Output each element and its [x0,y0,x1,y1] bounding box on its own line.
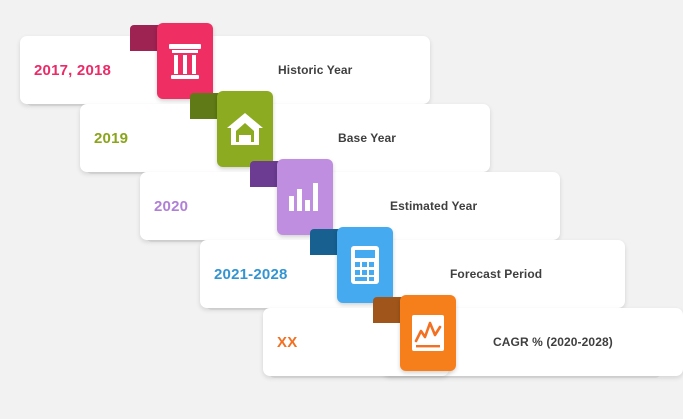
description-label: CAGR % (2020-2028) [493,308,613,376]
house-icon [224,108,266,150]
line-chart-icon-tile [400,295,456,371]
year-label: 2021-2028 [214,240,288,308]
pillar-icon [165,38,205,84]
bar-chart-icon [284,176,326,218]
timeline-diagram: 2017, 2018 Historic Year 2019 Base Year [0,0,683,419]
year-label: XX [277,308,297,376]
year-label: 2020 [154,172,188,240]
timeline-row-cagr: XX CAGR % (2020-2028) [263,308,663,376]
calculator-icon [347,243,383,287]
description-label: Base Year [338,104,396,172]
house-icon-tile [217,91,273,167]
description-label: Estimated Year [390,172,477,240]
year-label: 2017, 2018 [34,36,111,104]
bar-chart-icon-tile [277,159,333,235]
pillar-icon-tile [157,23,213,99]
description-label: Historic Year [278,36,352,104]
line-chart-icon [409,311,447,355]
description-label: Forecast Period [450,240,542,308]
calculator-icon-tile [337,227,393,303]
year-label: 2019 [94,104,128,172]
